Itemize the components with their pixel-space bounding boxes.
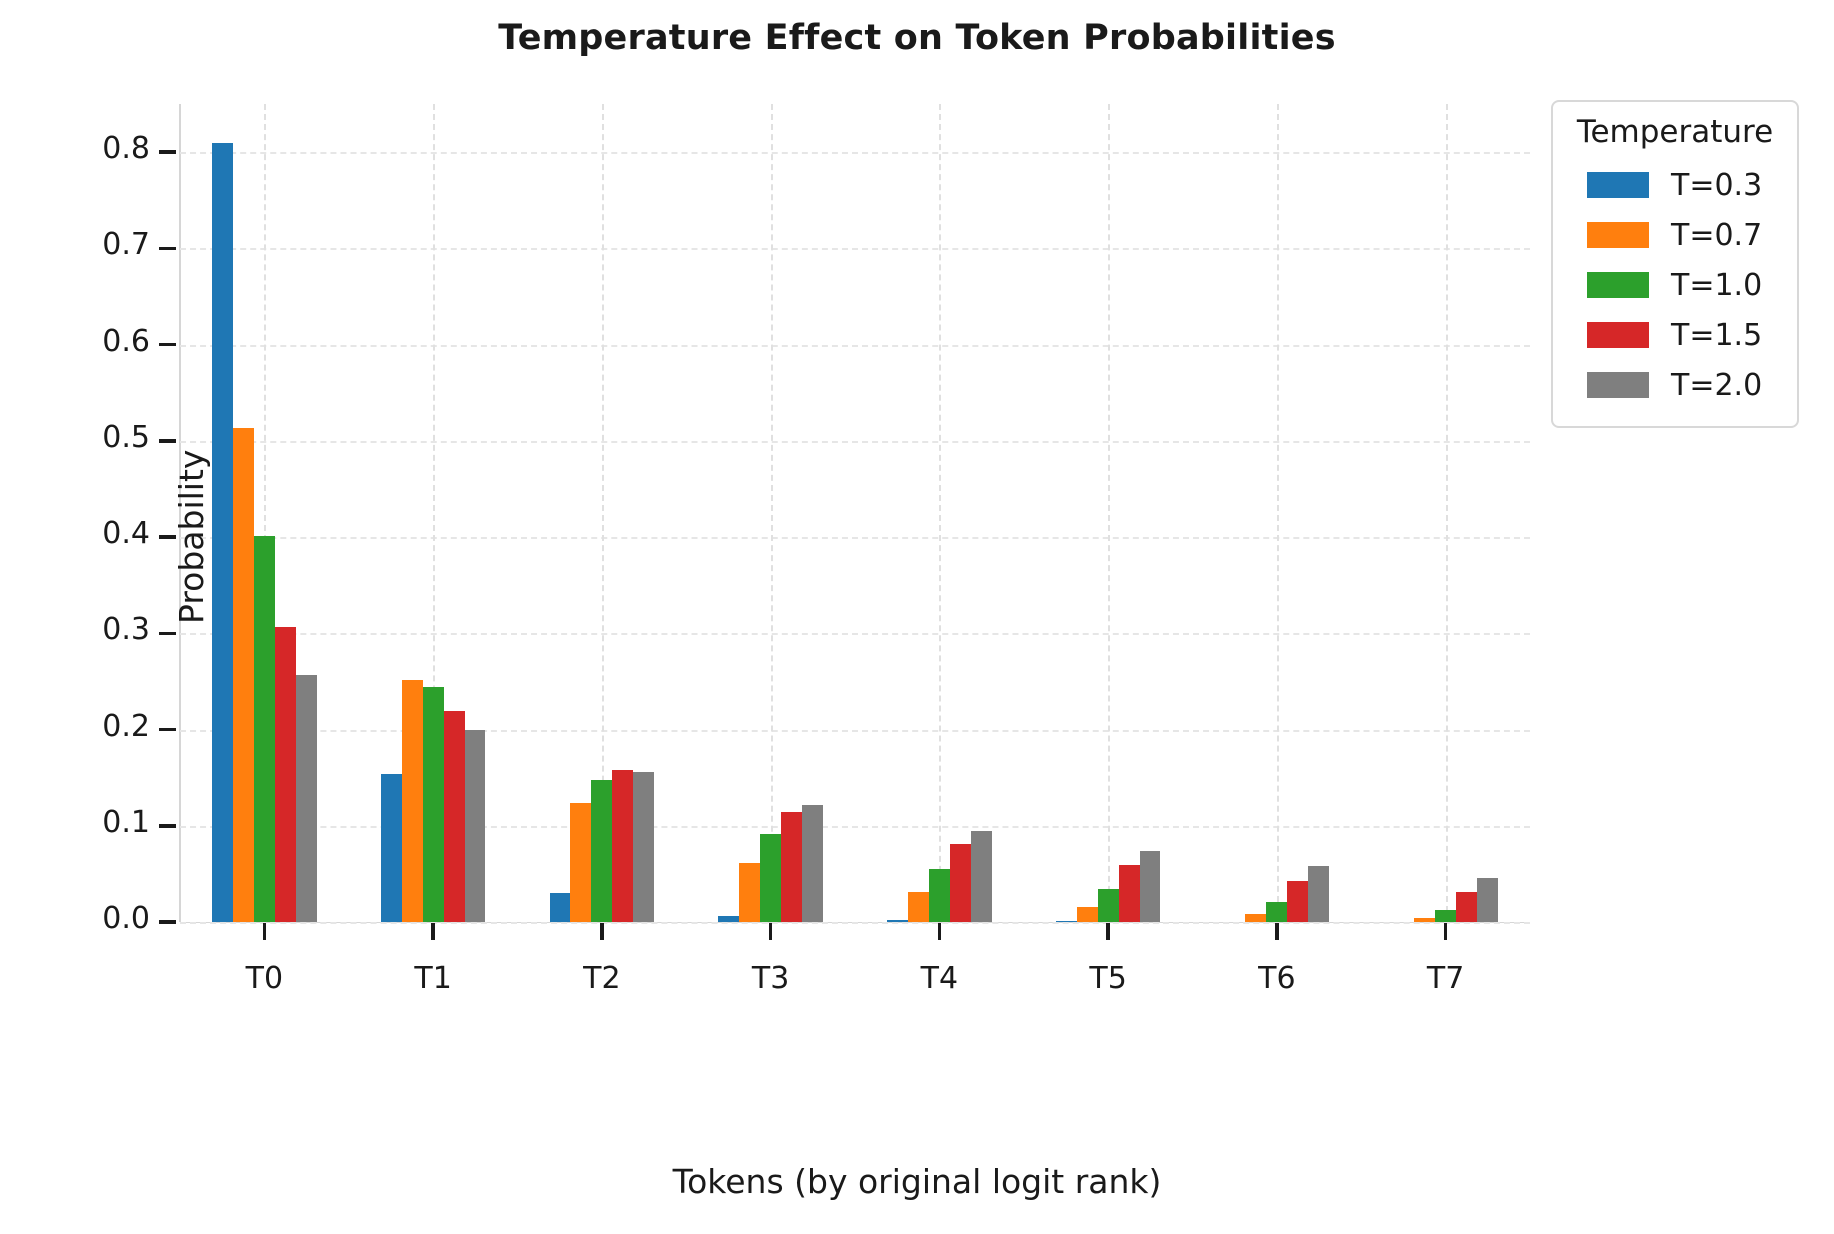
legend-entry-label: T=0.3	[1671, 168, 1762, 203]
y-axis-title: Probability	[172, 450, 211, 624]
legend-entry-label: T=0.7	[1671, 218, 1762, 253]
y-tick-mark	[159, 343, 176, 347]
bar	[275, 627, 296, 922]
bar	[444, 711, 465, 922]
x-tick-label: T7	[1386, 961, 1506, 996]
bar	[233, 428, 254, 922]
bar	[1245, 914, 1266, 922]
bar	[296, 675, 317, 922]
y-tick-mark	[159, 824, 176, 828]
legend-entries: T=0.3T=0.7T=1.0T=1.5T=2.0	[1569, 160, 1781, 410]
bar	[381, 774, 402, 922]
y-tick-label: 0.5	[20, 420, 150, 455]
y-tick-label: 0.4	[20, 516, 150, 551]
legend-entry[interactable]: T=1.0	[1569, 260, 1781, 310]
bar	[423, 687, 444, 922]
y-tick-mark	[159, 247, 176, 251]
bar	[612, 770, 633, 922]
x-tick-mark	[1275, 923, 1279, 940]
x-tick-label: T6	[1217, 961, 1337, 996]
y-tick-mark	[159, 150, 176, 154]
legend-entry-label: T=1.5	[1671, 318, 1762, 353]
legend-entry[interactable]: T=1.5	[1569, 310, 1781, 360]
x-tick-label: T3	[711, 961, 831, 996]
gridline-horizontal	[180, 730, 1530, 732]
legend-color-swatch	[1587, 272, 1649, 298]
bar	[1435, 910, 1456, 923]
bar	[402, 680, 423, 923]
gridline-vertical	[1277, 104, 1279, 922]
y-tick-label: 0.8	[20, 131, 150, 166]
chart-title: Temperature Effect on Token Probabilitie…	[0, 18, 1834, 58]
legend-entry[interactable]: T=0.7	[1569, 210, 1781, 260]
gridline-horizontal	[180, 248, 1530, 250]
legend-color-swatch	[1587, 222, 1649, 248]
x-tick-mark	[431, 923, 435, 940]
gridline-horizontal	[180, 537, 1530, 539]
bar	[760, 834, 781, 922]
x-tick-label: T5	[1048, 961, 1168, 996]
gridline-vertical	[1108, 104, 1110, 922]
gridline-horizontal	[180, 922, 1530, 924]
bar	[971, 831, 992, 922]
legend-color-swatch	[1587, 372, 1649, 398]
legend-entry-label: T=2.0	[1671, 368, 1762, 403]
bar	[1456, 892, 1477, 922]
x-tick-label: T2	[542, 961, 662, 996]
x-tick-mark	[263, 923, 267, 940]
y-tick-mark	[159, 632, 176, 636]
bar	[1414, 918, 1435, 922]
legend-entry-label: T=1.0	[1671, 268, 1762, 303]
x-tick-mark	[1106, 923, 1110, 940]
y-tick-label: 0.2	[20, 709, 150, 744]
bar	[633, 772, 654, 922]
bar	[465, 730, 486, 922]
bar	[1266, 902, 1287, 922]
bar	[1308, 866, 1329, 922]
gridline-vertical	[939, 104, 941, 922]
bar	[718, 916, 739, 922]
y-tick-label: 0.3	[20, 612, 150, 647]
bar	[887, 920, 908, 922]
bar	[1287, 881, 1308, 922]
x-axis-title: Tokens (by original logit rank)	[0, 1162, 1834, 1201]
bar	[1056, 921, 1077, 922]
y-tick-mark	[159, 728, 176, 732]
bar	[781, 812, 802, 922]
chart-figure: Temperature Effect on Token Probabilitie…	[0, 0, 1834, 1234]
x-tick-mark	[600, 923, 604, 940]
bar	[591, 780, 612, 922]
gridline-horizontal	[180, 441, 1530, 443]
bar	[950, 844, 971, 922]
bar	[1477, 878, 1498, 922]
x-tick-mark	[769, 923, 773, 940]
bar	[1098, 889, 1119, 922]
y-tick-label: 0.1	[20, 805, 150, 840]
bar	[908, 892, 929, 922]
x-tick-mark	[1444, 923, 1448, 940]
legend: Temperature T=0.3T=0.7T=1.0T=1.5T=2.0	[1551, 100, 1799, 428]
bar	[1077, 907, 1098, 922]
gridline-vertical	[1446, 104, 1448, 922]
y-tick-mark	[159, 920, 176, 924]
gridline-vertical	[771, 104, 773, 922]
gridline-horizontal	[180, 633, 1530, 635]
bar	[254, 536, 275, 922]
legend-entry[interactable]: T=2.0	[1569, 360, 1781, 410]
legend-entry[interactable]: T=0.3	[1569, 160, 1781, 210]
bar	[929, 869, 950, 922]
bar	[1140, 851, 1161, 922]
bar	[550, 893, 571, 922]
y-tick-label: 0.6	[20, 324, 150, 359]
y-tick-mark	[159, 439, 176, 443]
legend-color-swatch	[1587, 322, 1649, 348]
y-tick-label: 0.7	[20, 227, 150, 262]
bar	[212, 143, 233, 923]
gridline-horizontal	[180, 152, 1530, 154]
legend-title: Temperature	[1569, 114, 1781, 150]
x-tick-label: T0	[204, 961, 324, 996]
bar	[739, 863, 760, 922]
y-tick-label: 0.0	[20, 901, 150, 936]
bar	[570, 803, 591, 922]
plot-area: 0.00.10.20.30.40.50.60.70.8 T0T1T2T3T4T5…	[180, 104, 1530, 922]
gridline-horizontal	[180, 345, 1530, 347]
x-tick-mark	[938, 923, 942, 940]
bar	[802, 805, 823, 922]
x-tick-label: T1	[373, 961, 493, 996]
legend-color-swatch	[1587, 172, 1649, 198]
x-tick-label: T4	[879, 961, 999, 996]
bar	[1119, 865, 1140, 922]
